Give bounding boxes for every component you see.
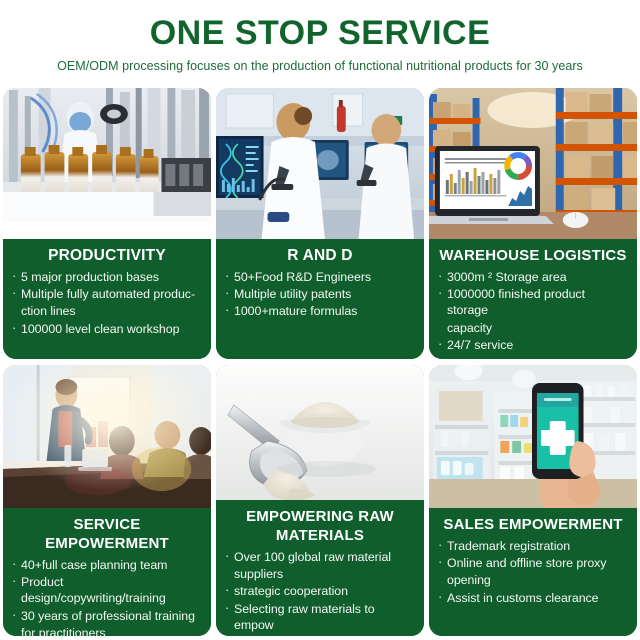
list-item: opening xyxy=(438,572,628,588)
laboratory-researchers-photo xyxy=(216,88,424,239)
list-item: 40+full case planning team xyxy=(12,557,202,573)
list-item: 5 major production bases xyxy=(12,269,202,285)
list-item: Multiple utility patents xyxy=(225,286,415,302)
card-title: SERVICE EMPOWERMENT xyxy=(12,515,202,553)
bullet-list: 5 major production bases Multiple fully … xyxy=(12,269,202,337)
list-item: 100000 level clean workshop xyxy=(12,321,202,337)
card-body-productivity: PRODUCTIVITY 5 major production bases Mu… xyxy=(3,239,211,359)
list-item: 1000+mature formulas xyxy=(225,303,415,319)
warehouse-laptop-dashboard-photo xyxy=(429,88,637,239)
card-title: EMPOWERING RAW MATERIALS xyxy=(225,507,415,545)
list-item: suppliers xyxy=(225,566,415,582)
list-item: ction lines xyxy=(12,303,202,319)
list-item: Selecting raw materials to empow xyxy=(225,601,415,633)
card-title: WAREHOUSE LOGISTICS xyxy=(438,246,628,265)
card-title: SALES EMPOWERMENT xyxy=(438,515,628,534)
list-item: Multiple fully automated produc- xyxy=(12,286,202,302)
list-item: 1000000 finished product storage xyxy=(438,286,628,318)
page-title: ONE STOP SERVICE xyxy=(0,12,640,54)
list-item: Product design/copywriting/training xyxy=(12,574,202,606)
infographic-page: ONE STOP SERVICE OEM/ODM processing focu… xyxy=(0,0,640,640)
list-item: capacity xyxy=(438,320,628,336)
production-line-amber-bottles-photo xyxy=(3,88,211,239)
card-sales-empowerment[interactable]: SALES EMPOWERMENT Trademark registration… xyxy=(429,365,637,636)
card-productivity[interactable]: PRODUCTIVITY 5 major production bases Mu… xyxy=(3,88,211,359)
card-body-sales-empowerment: SALES EMPOWERMENT Trademark registration… xyxy=(429,508,637,636)
bullet-list: 3000m ² Storage area 1000000 finished pr… xyxy=(438,269,628,353)
list-item: Over 100 global raw material xyxy=(225,549,415,565)
bullet-list: Trademark registration Online and offlin… xyxy=(438,538,628,606)
list-item: Online and offline store proxy xyxy=(438,555,628,571)
card-empowering-raw-materials[interactable]: EMPOWERING RAW MATERIALS Over 100 global… xyxy=(216,365,424,636)
card-body-warehouse-logistics: WAREHOUSE LOGISTICS 3000m ² Storage area… xyxy=(429,239,637,359)
card-title: R AND D xyxy=(225,246,415,265)
list-item: 30 years of professional training xyxy=(12,608,202,624)
card-body-empowering-raw-materials: EMPOWERING RAW MATERIALS Over 100 global… xyxy=(216,500,424,636)
powder-bowl-scoop-photo xyxy=(216,365,424,500)
bullet-list: Over 100 global raw material suppliers s… xyxy=(225,549,415,636)
card-r-and-d[interactable]: R AND D 50+Food R&D Engineers Multiple u… xyxy=(216,88,424,359)
list-item: Trademark registration xyxy=(438,538,628,554)
card-title: PRODUCTIVITY xyxy=(12,246,202,265)
card-service-empowerment[interactable]: SERVICE EMPOWERMENT 40+full case plannin… xyxy=(3,365,211,636)
pharmacy-smartphone-app-photo xyxy=(429,365,637,508)
list-item: strategic cooperation xyxy=(225,583,415,599)
training-meeting-room-photo xyxy=(3,365,211,508)
list-item: 50+Food R&D Engineers xyxy=(225,269,415,285)
service-card-grid: PRODUCTIVITY 5 major production bases Mu… xyxy=(3,88,637,636)
bullet-list: 40+full case planning team Product desig… xyxy=(12,557,202,636)
list-item: 24/7 service xyxy=(438,337,628,353)
header: ONE STOP SERVICE OEM/ODM processing focu… xyxy=(0,0,640,76)
card-warehouse-logistics[interactable]: WAREHOUSE LOGISTICS 3000m ² Storage area… xyxy=(429,88,637,359)
page-subtitle: OEM/ODM processing focuses on the produc… xyxy=(0,56,640,76)
card-body-service-empowerment: SERVICE EMPOWERMENT 40+full case plannin… xyxy=(3,508,211,636)
bullet-list: 50+Food R&D Engineers Multiple utility p… xyxy=(225,269,415,320)
list-item: 3000m ² Storage area xyxy=(438,269,628,285)
list-item: -er brand development xyxy=(225,634,415,636)
list-item: for practitioners xyxy=(12,625,202,636)
card-body-r-and-d: R AND D 50+Food R&D Engineers Multiple u… xyxy=(216,239,424,359)
list-item: Assist in customs clearance xyxy=(438,590,628,606)
